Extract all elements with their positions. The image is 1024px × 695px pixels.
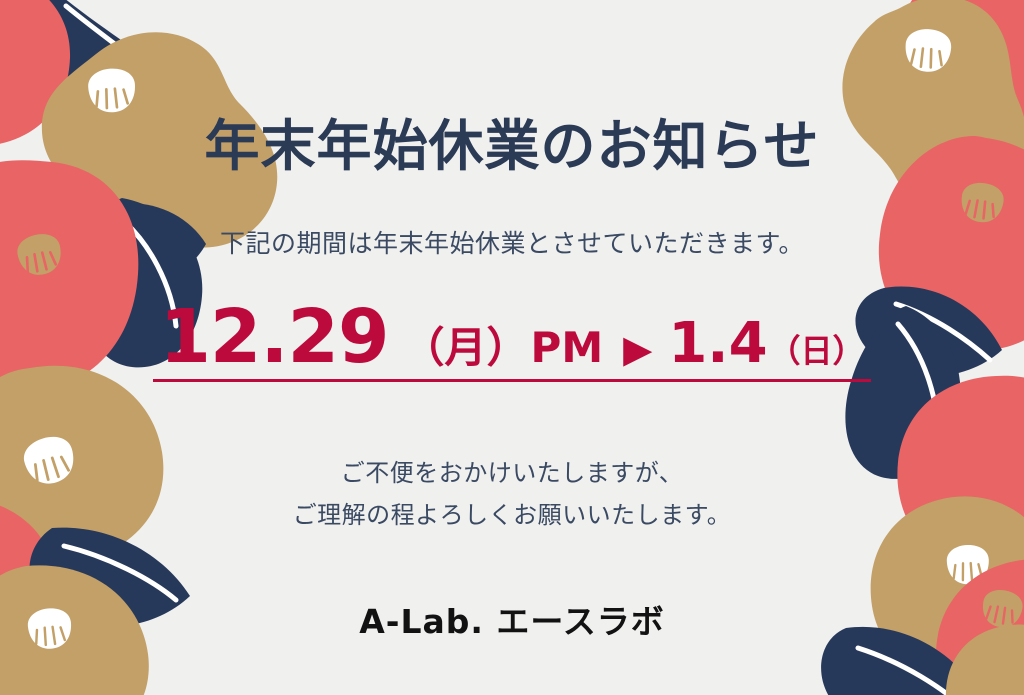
period-underline	[153, 379, 870, 382]
holiday-notice-poster: 年末年始休業のお知らせ 下記の期間は年末年始休業とさせていただきます。 12.2…	[0, 0, 1024, 695]
closure-period-line: 12.29（月）PM▶1.4（日）	[153, 300, 870, 382]
closing-message-line-2: ご理解の程よろしくお願いいたします。	[0, 494, 1024, 536]
notice-subtitle: 下記の期間は年末年始休業とさせていただきます。	[0, 228, 1024, 261]
period-end-weekday: （日）	[769, 332, 865, 370]
period-start-date: 12.29	[159, 294, 388, 380]
poster-content: 年末年始休業のお知らせ 下記の期間は年末年始休業とさせていただきます。 12.2…	[0, 0, 1024, 695]
closure-period-block: 12.29（月）PM▶1.4（日）	[0, 300, 1024, 382]
period-start-time: PM	[531, 323, 604, 372]
closing-message: ご不便をおかけいたしますが、 ご理解の程よろしくお願いいたします。	[0, 452, 1024, 536]
period-start-weekday: （月）	[403, 323, 529, 372]
play-triangle-icon: ▶	[623, 327, 652, 371]
closing-message-line-1: ご不便をおかけいたしますが、	[0, 452, 1024, 494]
period-end-date: 1.4	[668, 311, 767, 376]
company-name: A-Lab. エースラボ	[0, 595, 1024, 643]
page-title: 年末年始休業のお知らせ	[0, 115, 1024, 178]
